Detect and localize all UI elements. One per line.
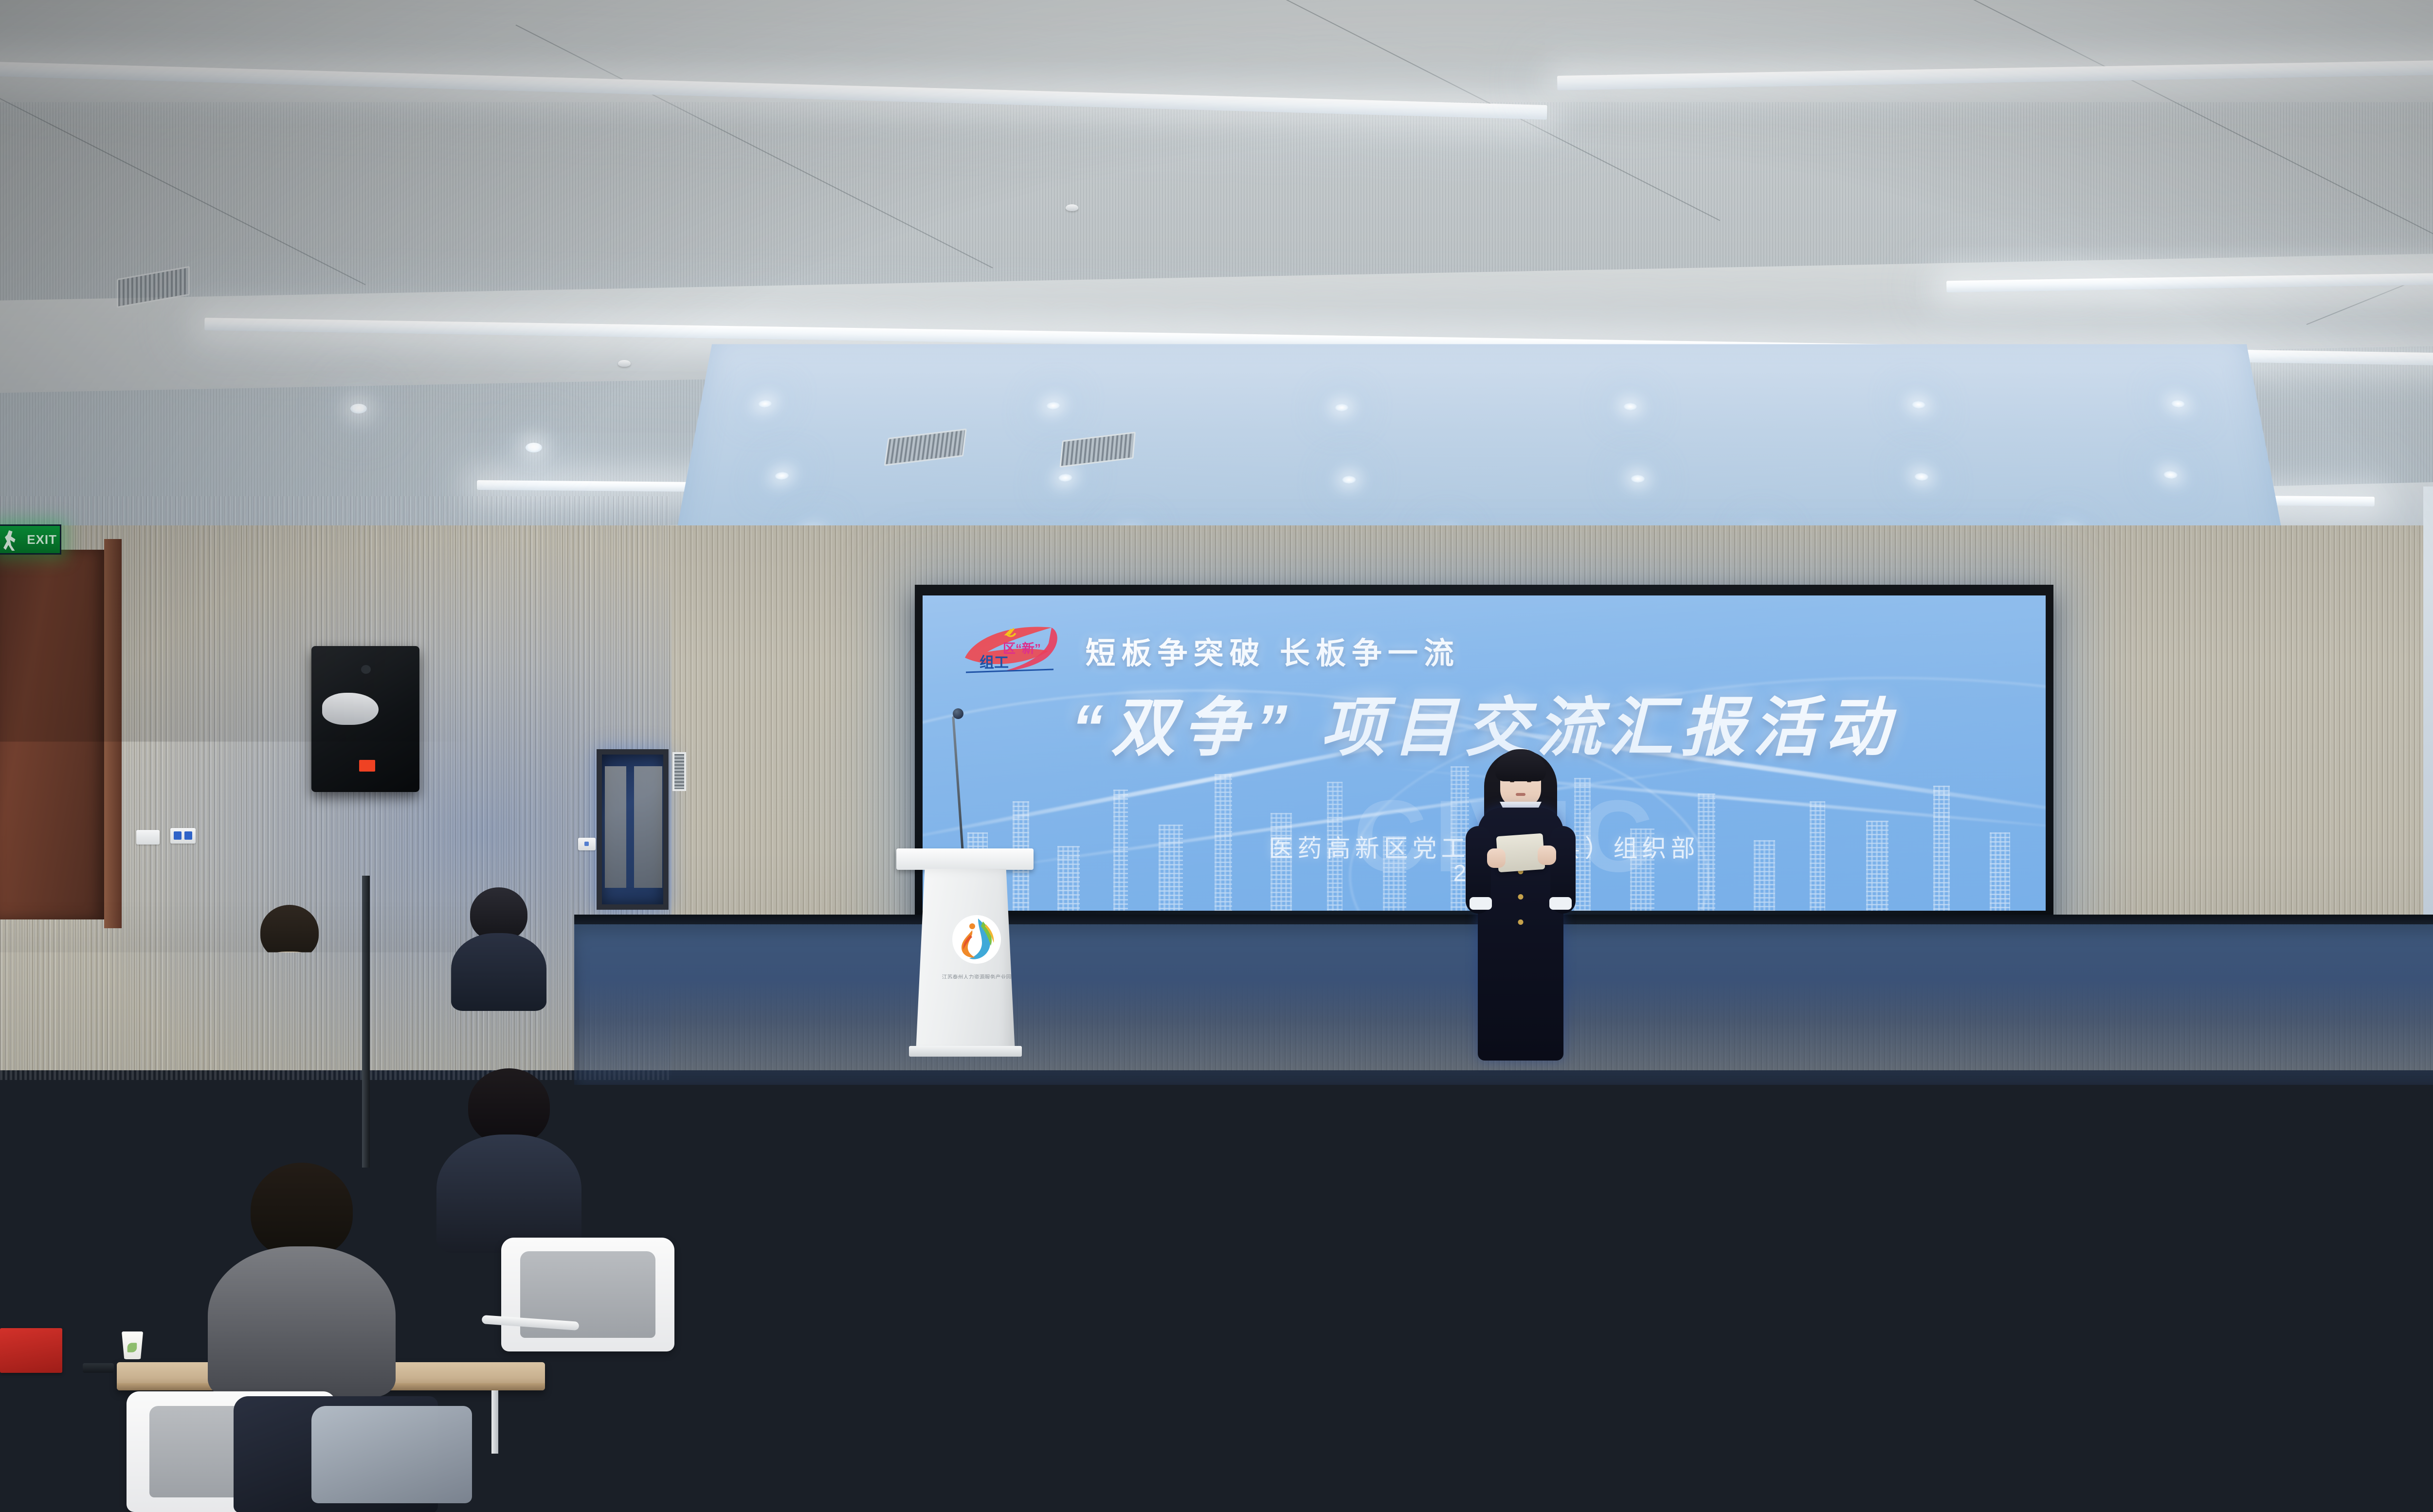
light-switch-panel[interactable] [136, 830, 160, 845]
audience-member [10, 1061, 156, 1236]
microphone-head [953, 708, 963, 719]
audience-member [2083, 900, 2175, 1011]
audience-member [676, 904, 767, 1011]
svg-text:区“新”: 区“新” [1003, 641, 1041, 656]
desk-leg [1839, 1387, 1846, 1451]
ceiling-downlight [526, 443, 542, 452]
conference-hall-photo: EXIT [0, 0, 2433, 1512]
exit-sign-label: EXIT [27, 532, 57, 547]
audience-member [453, 887, 545, 1004]
stage-downlight [758, 400, 772, 408]
audience-member [1362, 902, 1455, 1013]
ceiling-beam-front [0, 0, 2433, 102]
red-folder[interactable] [0, 1328, 62, 1373]
audience-member [311, 986, 421, 1118]
desk [730, 1453, 1265, 1485]
desk [1625, 1450, 2170, 1482]
window-pane [634, 766, 662, 888]
glass-partition [2423, 486, 2433, 924]
party-emblem-logo: 区“新” 组工 [956, 613, 1068, 686]
coat-button [1518, 894, 1524, 900]
stage-downlight [2171, 400, 2185, 408]
door-frame [104, 539, 122, 928]
stage-downlight [1335, 404, 1348, 412]
seat[interactable] [730, 1022, 859, 1105]
audience-member [1236, 978, 1349, 1115]
audience-member [788, 1170, 969, 1385]
switch-indicator [584, 842, 589, 846]
water-bottle[interactable] [744, 1185, 757, 1223]
presenter-hand [1538, 846, 1556, 865]
stage-downlight [774, 472, 789, 480]
speaker-tweeter [361, 665, 371, 674]
audience-member [2263, 1284, 2433, 1512]
stage-downlight [2163, 471, 2178, 479]
ac-vent [1059, 432, 1136, 468]
seat[interactable] [1664, 1121, 1811, 1217]
stage-downlight [1046, 402, 1060, 410]
seat[interactable] [1090, 1386, 1304, 1512]
audience-member [1684, 898, 1776, 1011]
light-switch-panel[interactable] [578, 838, 596, 850]
stage-downlight [1623, 403, 1637, 411]
paper-cup[interactable] [122, 1332, 143, 1359]
presenter-hand [1487, 848, 1506, 868]
outlet-socket [174, 831, 182, 840]
window-pane [605, 766, 626, 888]
smartphone[interactable] [83, 1363, 114, 1373]
water-bottle[interactable] [1654, 1394, 1673, 1451]
audience-member [2297, 1055, 2433, 1238]
speaker-horn [322, 693, 378, 725]
stage-downlight [1914, 473, 1929, 481]
seat[interactable] [1640, 1023, 1770, 1107]
paper-cup[interactable] [2345, 1200, 2362, 1221]
smartphone[interactable] [1684, 1365, 1715, 1375]
stage-downlight [1342, 476, 1356, 484]
stage-downlight [1058, 474, 1072, 482]
seat[interactable] [1825, 1237, 1998, 1351]
audience-member [1820, 1060, 1966, 1238]
outlet-socket [184, 831, 192, 840]
outlet-panel[interactable] [170, 828, 196, 844]
water-bottle[interactable] [2379, 1182, 2391, 1220]
audience-member [438, 1289, 691, 1512]
red-folder[interactable] [2088, 1082, 2128, 1109]
ac-vent [884, 429, 967, 466]
audience-member [209, 1163, 394, 1382]
control-booth-window [597, 749, 669, 910]
seat[interactable] [1178, 1240, 1350, 1352]
smoke-detector [618, 360, 631, 367]
ceiling [0, 0, 2433, 564]
ceiling-downlight [350, 404, 367, 414]
stage-downlight [1631, 475, 1645, 483]
speaker-brand-badge [359, 760, 375, 772]
audience-member [438, 1068, 580, 1238]
smoke-detector [1066, 204, 1078, 211]
red-folder[interactable] [2015, 1196, 2057, 1223]
tissue-box[interactable] [1285, 1192, 1348, 1228]
audience-member [1046, 987, 1156, 1117]
audience-member [2092, 1160, 2279, 1384]
running-person-icon [3, 530, 18, 551]
exit-sign: EXIT [0, 524, 61, 555]
svg-text:组工: 组工 [980, 654, 1009, 671]
podium-top [896, 848, 1034, 870]
audience-seating [0, 900, 2433, 1512]
seat[interactable] [1002, 1119, 1150, 1216]
slide-tagline: 短板争突破 长板争一流 [1086, 629, 1460, 672]
water-bottle[interactable] [827, 1397, 846, 1454]
stage-downlight [1911, 401, 1925, 409]
loudspeaker-left [311, 646, 419, 792]
wall-vent [672, 752, 686, 791]
hall-door[interactable] [0, 550, 112, 919]
audience-member [1333, 1275, 1596, 1512]
presenter-mouth [1516, 793, 1525, 796]
